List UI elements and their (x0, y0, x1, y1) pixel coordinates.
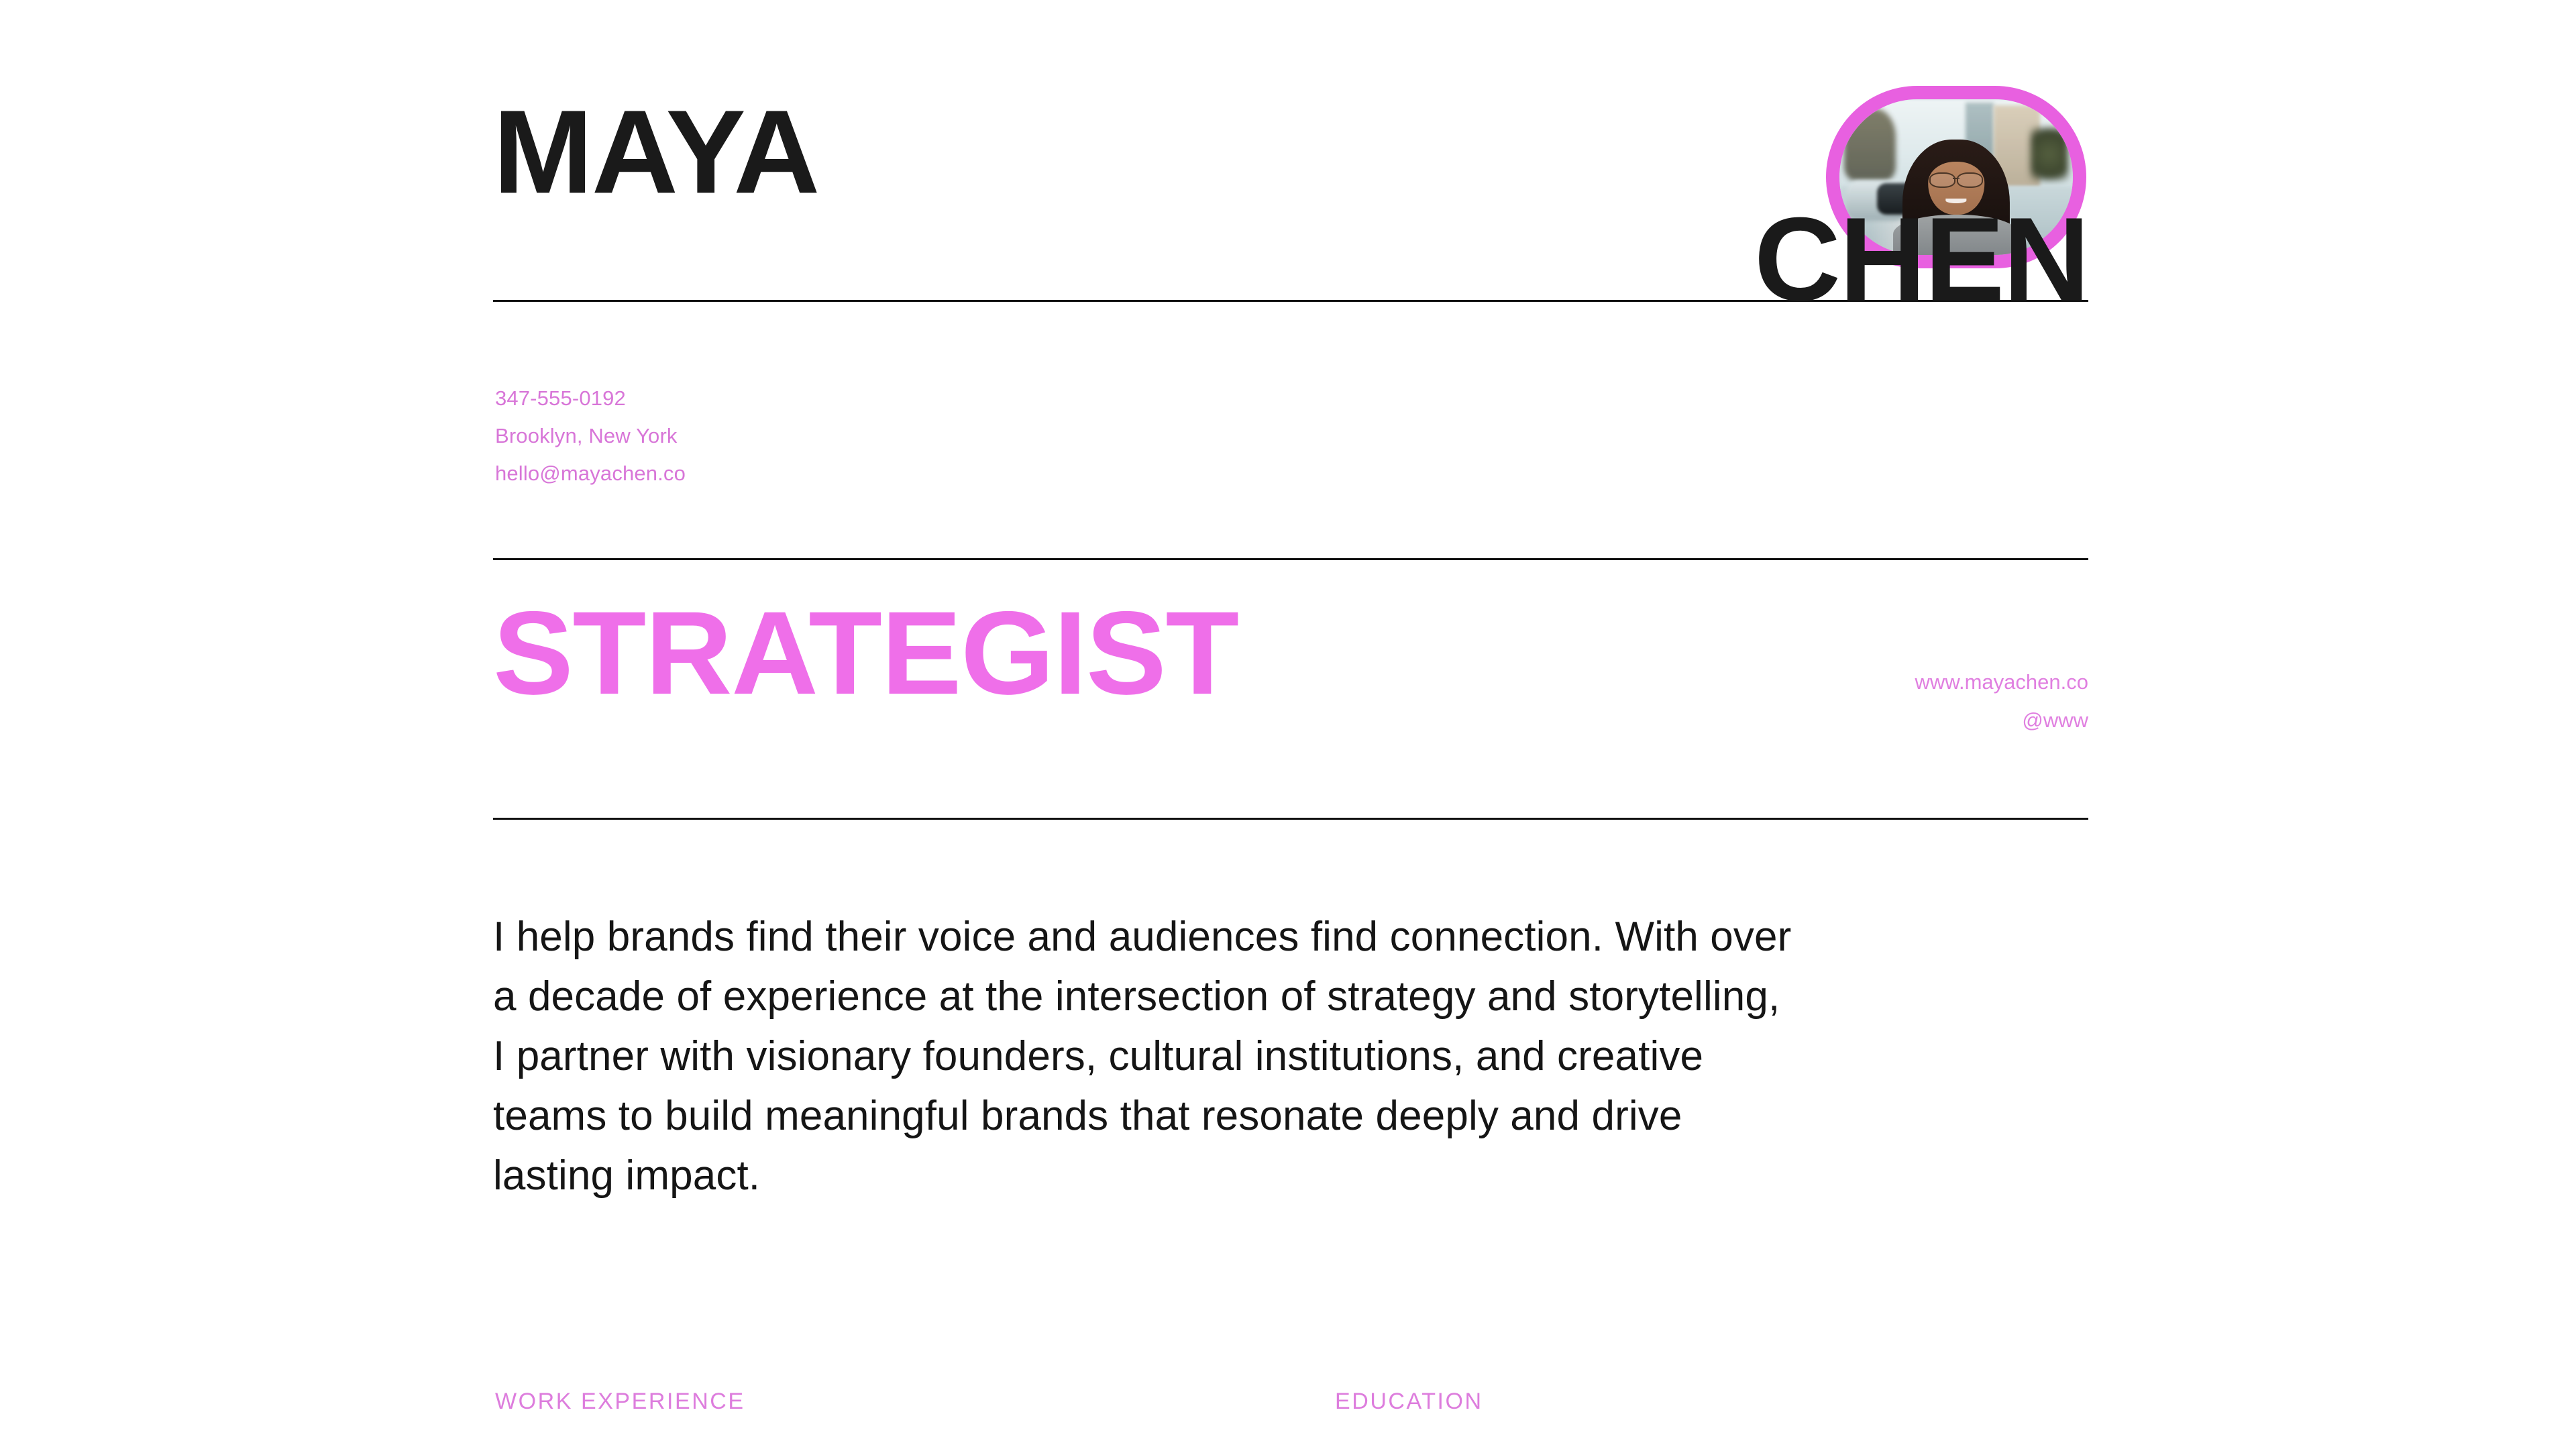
summary-paragraph: I help brands find their voice and audie… (493, 907, 2083, 1205)
summary-line: I partner with visionary founders, cultu… (493, 1026, 2083, 1086)
role-title-heading: STRATEGIST (493, 594, 1238, 712)
resume-page: MAYA (0, 0, 2576, 1449)
photo-tree-left (1844, 109, 1896, 180)
glasses-left-lens (1929, 172, 1955, 188)
section-heading-education: EDUCATION (1335, 1389, 1483, 1415)
first-name-heading: MAYA (493, 93, 818, 211)
contact-location: Brooklyn, New York (495, 417, 686, 455)
content-column: MAYA (493, 0, 2088, 1449)
social-handle[interactable]: @www (1915, 701, 2088, 739)
divider-rule-middle (493, 558, 2088, 560)
website-link[interactable]: www.mayachen.co (1915, 663, 2088, 701)
contact-email[interactable]: hello@mayachen.co (495, 455, 686, 492)
glasses-right-lens (1957, 172, 1983, 188)
contact-phone[interactable]: 347-555-0192 (495, 380, 686, 417)
last-name-heading: CHEN (1754, 200, 2088, 319)
summary-line: I help brands find their voice and audie… (493, 907, 2083, 967)
glasses-icon (1929, 172, 1983, 185)
contact-block: 347-555-0192 Brooklyn, New York hello@ma… (495, 380, 686, 492)
divider-rule-bottom (493, 818, 2088, 820)
section-heading-work-experience: WORK EXPERIENCE (495, 1389, 745, 1415)
links-block: www.mayachen.co @www (1915, 663, 2088, 739)
summary-line: teams to build meaningful brands that re… (493, 1086, 2083, 1146)
summary-line: lasting impact. (493, 1146, 2083, 1205)
summary-line: a decade of experience at the intersecti… (493, 967, 2083, 1026)
photo-tree-right (2031, 127, 2068, 180)
